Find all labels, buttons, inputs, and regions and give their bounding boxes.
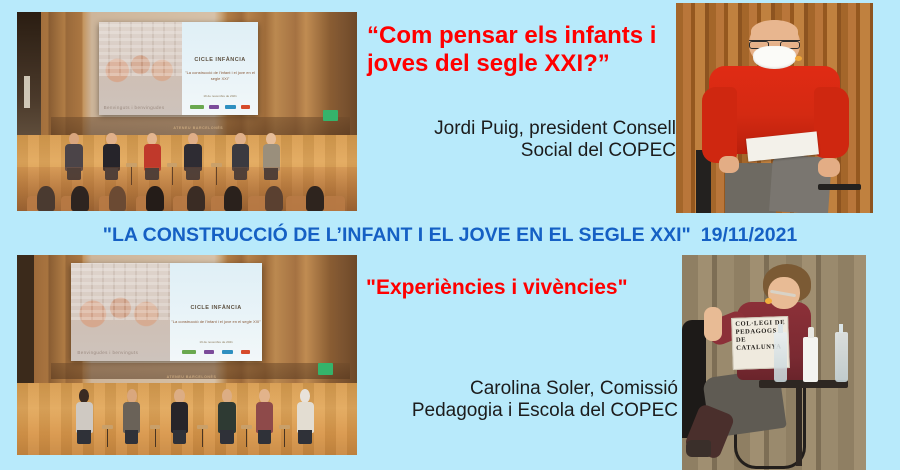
screen-subtitle: "La construcció de l'infant i el jove en… — [182, 70, 259, 82]
screen-text-half: CICLE INFÀNCIA "La construcció de l'infa… — [182, 22, 259, 116]
sponsor-logo-4 — [241, 350, 250, 354]
screen-date: 19 de novembre de 2021 — [182, 94, 259, 98]
shoe — [686, 440, 712, 457]
side-table — [150, 425, 161, 447]
venue-logo-top: ATENEU BARCELONÈS — [173, 126, 223, 130]
panelist — [255, 389, 274, 443]
screen-sponsor-logos — [178, 350, 255, 354]
screen-sponsor-logos — [188, 105, 252, 109]
hand-left — [719, 156, 739, 173]
speaker-figure — [676, 3, 873, 213]
water-bottle — [835, 332, 848, 381]
screen-title: CICLE INFÀNCIA — [182, 57, 259, 63]
sponsor-logo-2 — [209, 105, 219, 109]
panelist — [122, 389, 141, 443]
photo-auditorium-top: Benvinguts i benvingudes CICLE INFÀNCIA … — [17, 12, 357, 211]
banner-strip: "LA CONSTRUCCIÓ DE L’INFANT I EL JOVE EN… — [0, 224, 900, 247]
projection-screen-bottom: Benvingudes i benvinguts CICLE INFÀNCIA … — [71, 263, 261, 361]
microphone-icon — [795, 56, 802, 61]
projection-screen-top: Benvinguts i benvingudes CICLE INFÀNCIA … — [99, 22, 259, 116]
arm-right — [814, 87, 849, 158]
screen-welcome-text: Benvingudes i benvinguts — [77, 350, 164, 355]
exit-sign-icon — [323, 110, 338, 122]
side-table — [197, 425, 208, 447]
side-table — [241, 425, 252, 447]
caption-carolina-soler: Carolina Soler, Comissió Pedagogia i Esc… — [390, 378, 678, 423]
panelist — [218, 389, 237, 443]
audience-rows — [17, 167, 357, 211]
caption-jordi-puig: Jordi Puig, president Consell Social del… — [398, 118, 676, 163]
banner-title: "LA CONSTRUCCIÓ DE L’INFANT I EL JOVE EN… — [103, 224, 691, 246]
auditorium-side-door — [17, 12, 41, 155]
screen-welcome-text: Benvinguts i benvingudes — [104, 105, 177, 110]
sponsor-logo-1 — [182, 350, 196, 354]
screen-photo-half: Benvingudes i benvinguts — [71, 263, 170, 361]
sponsor-logo-3 — [225, 105, 236, 109]
speaker-figure: COL·LEGI DE PEDAGOGS DE CATALUNYA — [682, 255, 866, 470]
chair-arm — [818, 184, 861, 190]
side-table — [279, 425, 290, 447]
sponsor-logo-2 — [204, 350, 214, 354]
photo-carolina-soler: COL·LEGI DE PEDAGOGS DE CATALUNYA — [682, 255, 866, 470]
panelist — [75, 389, 94, 443]
screen-photo-half: Benvinguts i benvingudes — [99, 22, 182, 116]
title-bottom-question: "Experiències i vivències" — [366, 276, 666, 300]
title-top-question: “Com pensar els infants i joves del segl… — [367, 22, 657, 78]
banner-date: 19/11/2021 — [701, 224, 798, 246]
water-bottle — [774, 332, 787, 381]
hand-sanitizer-bottle — [803, 337, 818, 382]
table-leg — [796, 386, 802, 466]
hand-raised — [704, 307, 722, 341]
panelist — [170, 389, 189, 443]
photo-jordi-puig — [676, 3, 873, 213]
sponsor-logo-3 — [222, 350, 233, 354]
screen-text-half: CICLE INFÀNCIA "La construcció de l'infa… — [170, 263, 261, 361]
sponsor-logo-4 — [241, 105, 250, 109]
slide-canvas: Benvinguts i benvingudes CICLE INFÀNCIA … — [0, 0, 900, 470]
photo-auditorium-bottom: Benvingudes i benvinguts CICLE INFÀNCIA … — [17, 255, 357, 455]
panelist — [296, 389, 315, 443]
sponsor-logo-1 — [190, 105, 204, 109]
side-table — [102, 425, 113, 447]
exit-sign-icon — [318, 363, 333, 375]
screen-date: 19 de novembre de 2021 — [170, 340, 261, 344]
hand-right — [818, 158, 840, 177]
screen-subtitle: "La construcció de l'infant i el jove en… — [170, 319, 261, 325]
screen-title: CICLE INFÀNCIA — [170, 305, 261, 311]
face-mask — [753, 46, 796, 69]
arm-left — [702, 87, 737, 163]
venue-logo-bottom: ATENEU BARCELONÈS — [167, 375, 217, 379]
